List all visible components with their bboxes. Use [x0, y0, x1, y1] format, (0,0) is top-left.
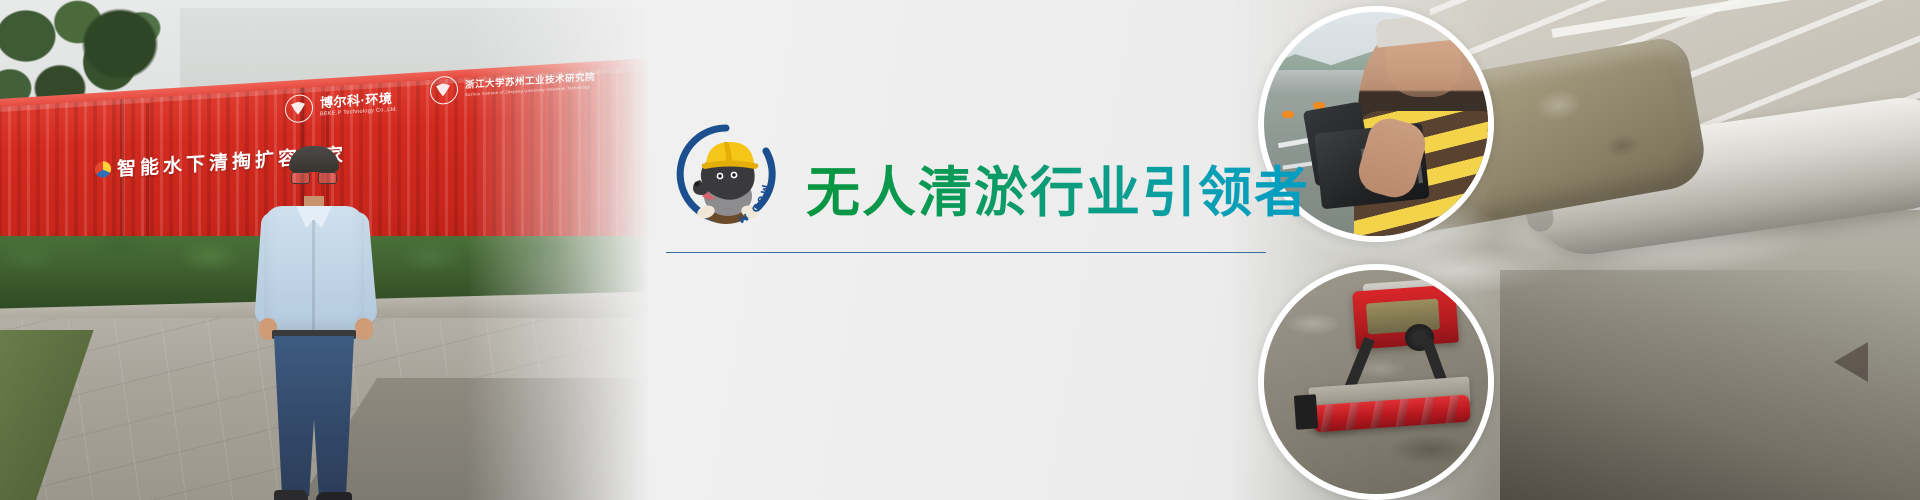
hero-banner: 博尔科·环境 BEKE.P Technology Co.,Ltd. 浙江大学苏州…	[0, 0, 1920, 500]
circle2-auger-flight	[1394, 399, 1412, 427]
boerke-logo-icon	[285, 94, 313, 124]
person-hair	[289, 146, 339, 172]
person-trousers	[274, 336, 354, 496]
logo-ring-tip	[766, 151, 771, 164]
person-glasses	[291, 172, 337, 182]
person-standing	[258, 150, 373, 500]
person-shirt-placket	[312, 220, 315, 330]
circle2-auger-flight	[1369, 400, 1387, 428]
person-shoe-right	[316, 492, 352, 500]
mud-mole-logo: MUD MOLE	[670, 118, 782, 230]
shadow-overlay	[1500, 270, 1920, 500]
circle2-auger-flight	[1444, 395, 1462, 423]
circle2-auger-flight	[1344, 402, 1362, 430]
logo-svg: MUD MOLE	[670, 118, 782, 230]
arrow-icon	[1834, 342, 1868, 382]
circle2-auger-flight	[1419, 397, 1437, 425]
circle2-auger-flight	[1319, 404, 1337, 432]
logo-mole-pupil-left	[718, 174, 721, 177]
person-shoe-left	[274, 490, 308, 500]
logo-mole-nose	[694, 181, 699, 186]
divider-rule	[666, 252, 1266, 253]
logo-mole-pupil-right	[732, 173, 735, 176]
university-seal-icon	[430, 75, 458, 105]
person-hand-right	[355, 318, 373, 340]
center-content: MUD MOLE 无人清淤行业引领者	[640, 0, 1300, 500]
left-photo-red-container: 博尔科·环境 BEKE.P Technology Co.,Ltd. 浙江大学苏州…	[0, 0, 650, 500]
page-title: 无人清淤行业引领者	[806, 148, 1310, 227]
slogan-badge-icon	[95, 160, 111, 177]
